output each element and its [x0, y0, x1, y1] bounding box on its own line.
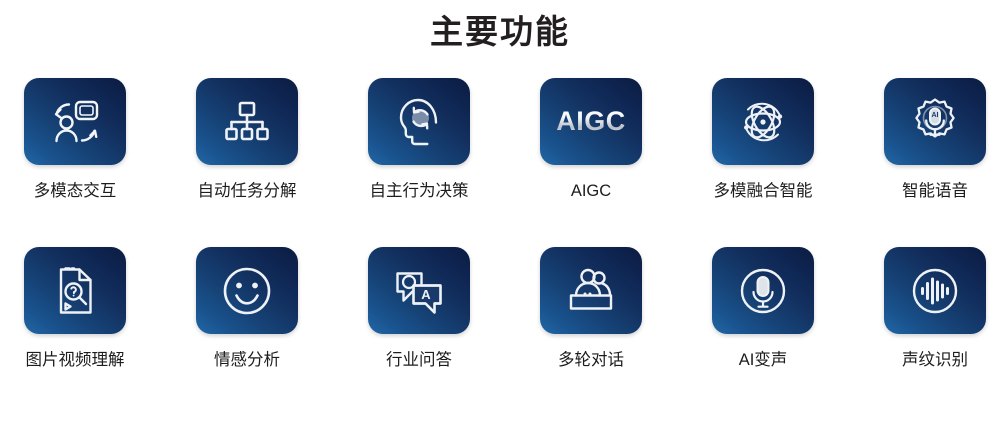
- feature-item-multimodal-fusion[interactable]: 多模融合智能: [712, 78, 814, 201]
- document-magnifier-question-icon: [52, 265, 98, 317]
- atom-icon: [736, 96, 790, 148]
- feature-tile[interactable]: AIGC: [540, 78, 642, 165]
- head-cycle-decision-icon: [394, 96, 444, 148]
- page-title: 主要功能: [0, 0, 1000, 56]
- feature-item-autonomous-decision[interactable]: 自主行为决策: [368, 78, 470, 201]
- feature-row-1: 多模态交互 自动任务分解: [0, 78, 1000, 201]
- feature-tile[interactable]: [196, 78, 298, 165]
- voiceprint-waveform-icon: [909, 265, 961, 317]
- feature-tile[interactable]: [712, 78, 814, 165]
- feature-tile[interactable]: A: [368, 247, 470, 334]
- smiley-face-icon: [221, 265, 273, 317]
- feature-label: 多模态交互: [34, 181, 117, 201]
- feature-item-multi-turn-dialogue[interactable]: 多轮对话: [540, 247, 642, 370]
- feature-tile[interactable]: [540, 247, 642, 334]
- svg-text:A: A: [421, 287, 431, 302]
- feature-label: 多轮对话: [558, 350, 624, 370]
- feature-label: AI变声: [739, 350, 788, 370]
- feature-label: 声纹识别: [902, 350, 968, 370]
- feature-tile[interactable]: AI: [884, 78, 986, 165]
- feature-tile[interactable]: [368, 78, 470, 165]
- feature-item-voiceprint-recognition[interactable]: 声纹识别: [884, 247, 986, 370]
- feature-tile[interactable]: [884, 247, 986, 334]
- qa-speech-bubbles-icon: A: [393, 265, 445, 317]
- feature-tile[interactable]: [712, 247, 814, 334]
- feature-item-aigc[interactable]: AIGC AIGC: [540, 78, 642, 201]
- feature-tile[interactable]: [196, 247, 298, 334]
- group-conversation-icon: [564, 267, 618, 315]
- feature-label: 自动任务分解: [198, 181, 297, 201]
- multimodal-interaction-icon: [49, 97, 101, 147]
- feature-label: 情感分析: [214, 350, 280, 370]
- feature-item-intelligent-voice[interactable]: AI 智能语音: [884, 78, 986, 201]
- svg-text:AI: AI: [932, 112, 939, 119]
- feature-item-ai-voice-change[interactable]: AI变声: [712, 247, 814, 370]
- aigc-text-icon: AIGC: [556, 108, 626, 135]
- feature-tile[interactable]: [24, 78, 126, 165]
- feature-label: 智能语音: [902, 181, 968, 201]
- feature-item-image-video-understanding[interactable]: 图片视频理解: [24, 247, 126, 370]
- microphone-circle-icon: [737, 265, 789, 317]
- feature-row-2: 图片视频理解 情感分析: [0, 247, 1000, 370]
- feature-tile[interactable]: [24, 247, 126, 334]
- feature-item-industry-qa[interactable]: A 行业问答: [368, 247, 470, 370]
- feature-item-multimodal-interaction[interactable]: 多模态交互: [24, 78, 126, 201]
- task-decomposition-hierarchy-icon: [223, 98, 271, 146]
- feature-label: 多模融合智能: [714, 181, 813, 201]
- feature-grid: 多模态交互 自动任务分解: [0, 78, 1000, 370]
- feature-item-task-decomposition[interactable]: 自动任务分解: [196, 78, 298, 201]
- feature-label: AIGC: [571, 181, 611, 201]
- feature-item-sentiment-analysis[interactable]: 情感分析: [196, 247, 298, 370]
- feature-label: 图片视频理解: [26, 350, 125, 370]
- gear-microphone-ai-icon: AI: [909, 96, 961, 148]
- feature-label: 自主行为决策: [370, 181, 469, 201]
- feature-label: 行业问答: [386, 350, 452, 370]
